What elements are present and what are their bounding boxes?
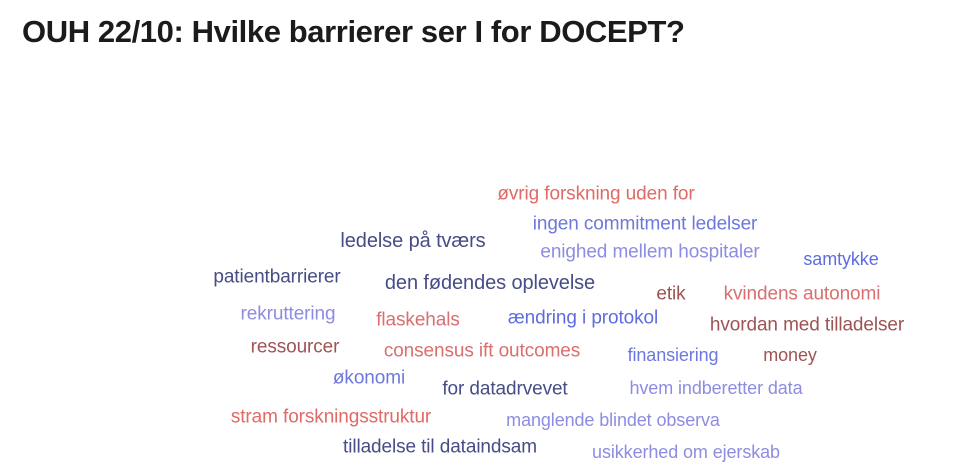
cloud-word[interactable]: for datadrvevet — [442, 380, 567, 399]
cloud-word[interactable]: money — [763, 346, 817, 364]
cloud-word[interactable]: stram forskningsstruktur — [231, 408, 431, 427]
cloud-word[interactable]: ingen commitment ledelser — [533, 215, 758, 234]
cloud-word[interactable]: usikkerhed om ejerskab — [592, 443, 780, 461]
cloud-word[interactable]: patientbarrierer — [213, 268, 340, 287]
cloud-word[interactable]: etik — [656, 285, 685, 304]
word-cloud: øvrig forskning uden foringen commitment… — [0, 0, 960, 475]
cloud-word[interactable]: flaskehals — [376, 311, 460, 330]
slide-canvas: OUH 22/10: Hvilke barrierer ser I for DO… — [0, 0, 960, 475]
cloud-word[interactable]: consensus ift outcomes — [384, 342, 580, 361]
cloud-word[interactable]: hvem indberetter data — [629, 379, 802, 397]
cloud-word[interactable]: den fødendes oplevelse — [385, 273, 595, 293]
cloud-word[interactable]: finansiering — [628, 346, 719, 364]
cloud-word[interactable]: rekruttering — [241, 305, 336, 324]
cloud-word[interactable]: tilladelse til dataindsam — [343, 438, 537, 457]
cloud-word[interactable]: kvindens autonomi — [724, 285, 881, 304]
cloud-word[interactable]: økonomi — [333, 369, 405, 388]
cloud-word[interactable]: øvrig forskning uden for — [497, 185, 694, 204]
cloud-word[interactable]: samtykke — [803, 250, 878, 268]
cloud-word[interactable]: enighed mellem hospitaler — [540, 243, 759, 262]
cloud-word[interactable]: ledelse på tværs — [340, 231, 485, 251]
cloud-word[interactable]: hvordan med tilladelser — [710, 316, 904, 335]
cloud-word[interactable]: ressourcer — [251, 338, 340, 357]
cloud-word[interactable]: manglende blindet observa — [506, 411, 720, 429]
cloud-word[interactable]: ændring i protokol — [508, 309, 658, 328]
